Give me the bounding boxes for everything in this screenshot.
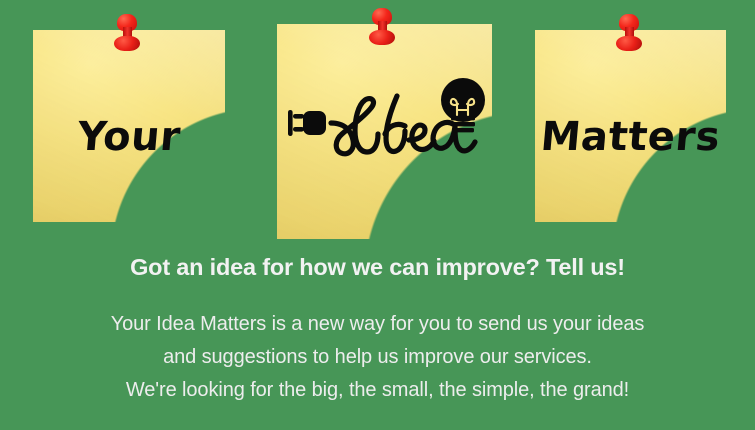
note-label-your: Your	[31, 114, 227, 160]
red-pushpin-icon	[365, 8, 399, 56]
body-line-3: We're looking for the big, the small, th…	[0, 374, 755, 407]
body-line-1: Your Idea Matters is a new way for you t…	[0, 308, 755, 341]
body-line-2: and suggestions to help us improve our s…	[0, 341, 755, 374]
poster-canvas: Your	[0, 0, 755, 430]
red-pushpin-icon	[110, 14, 144, 62]
copy-block: Got an idea for how we can improve? Tell…	[0, 252, 755, 407]
pushpin-collar	[369, 30, 395, 45]
pushpin-collar	[616, 36, 642, 51]
sticky-notes-row: Your	[0, 0, 755, 248]
idea-graphic	[285, 74, 485, 169]
note-label-matters: Matters	[533, 114, 728, 160]
sticky-note-idea	[277, 24, 492, 239]
red-pushpin-icon	[612, 14, 646, 62]
pushpin-collar	[114, 36, 140, 51]
headline: Got an idea for how we can improve? Tell…	[0, 252, 755, 282]
body-copy: Your Idea Matters is a new way for you t…	[0, 308, 755, 407]
